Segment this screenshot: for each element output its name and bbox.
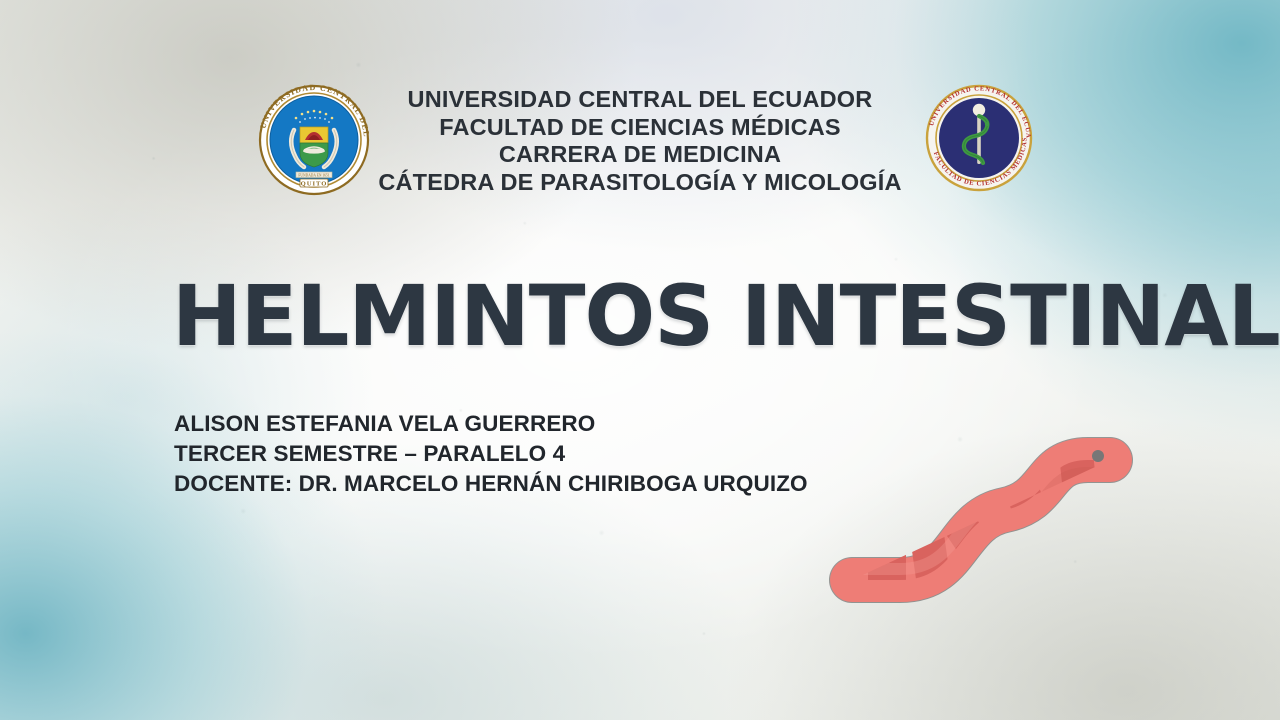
worm-eye: [1092, 450, 1104, 462]
header-title-text: UNIVERSIDAD CENTRAL DEL ECUADOR FACULTAD…: [180, 86, 1100, 196]
author-professor: DOCENTE: DR. MARCELO HERNÁN CHIRIBOGA UR…: [174, 469, 808, 499]
author-name: ALISON ESTEFANIA VELA GUERRERO: [174, 409, 808, 439]
slide-title: HELMINTOS INTESTINALES: [172, 272, 1280, 360]
author-semester: TERCER SEMESTRE – PARALELO 4: [174, 439, 808, 469]
institution-header: UNIVERSIDAD CENTRAL DEL ECUADOR: [0, 84, 1280, 206]
header-line-1: UNIVERSIDAD CENTRAL DEL ECUADOR: [180, 86, 1100, 114]
header-line-3: CARRERA DE MEDICINA: [180, 141, 1100, 169]
header-line-4: CÁTEDRA DE PARASITOLOGÍA Y MICOLOGÍA: [180, 169, 1100, 197]
author-info: ALISON ESTEFANIA VELA GUERRERO TERCER SE…: [174, 409, 808, 499]
header-line-2: FACULTAD DE CIENCIAS MÉDICAS: [180, 114, 1100, 142]
presentation-title-slide: UNIVERSIDAD CENTRAL DEL ECUADOR: [0, 0, 1280, 720]
worm-illustration: [820, 428, 1160, 623]
